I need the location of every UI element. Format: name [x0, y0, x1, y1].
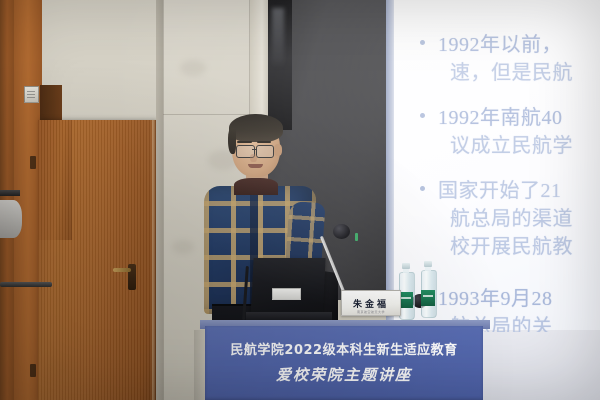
glasses-lens-right — [256, 145, 274, 158]
banner-title-line-1: 民航学院2022级本科生新生适应教育 — [205, 339, 483, 358]
speaker-hair-side — [228, 128, 236, 154]
door-gap-wall — [156, 0, 163, 400]
slide-text-line: 速，但是民航 — [450, 56, 573, 85]
door-panel-upper — [38, 120, 72, 240]
wall-mottle-1 — [180, 60, 206, 76]
door-hinge-lower — [30, 364, 36, 377]
laptop-label — [272, 288, 301, 300]
shirt-collar — [234, 178, 278, 195]
wall-sign-plaque — [24, 86, 39, 103]
speaker-eyebrow-left — [237, 141, 252, 143]
slide-text-line: 1992年南航40 — [438, 101, 563, 130]
slide-bullet-marker-1 — [420, 40, 425, 45]
water-bottle-label — [421, 290, 435, 306]
microphone-led-indicator — [355, 233, 358, 241]
slide-text-line: 1993年9月28 — [438, 282, 553, 311]
slide-text-line: 议成立民航学 — [450, 129, 573, 158]
speaker-eyebrow-right — [257, 141, 271, 143]
name-placard-text: 朱金福 — [353, 297, 389, 310]
handrail — [0, 282, 52, 287]
slide-bullet-marker-3 — [420, 186, 425, 191]
water-bottle-cap — [424, 261, 432, 267]
speaker-ear — [274, 144, 282, 156]
lecture-hall-photo: 1992年以前， 速，但是民航 1992年南航40 议成立民航学 国家开始了21… — [0, 0, 600, 400]
speaker-mouth — [248, 164, 263, 168]
wooden-door[interactable] — [38, 120, 156, 400]
microphone-icon — [333, 224, 350, 239]
name-placard: 朱金福 南京航空航天大学 — [341, 290, 401, 316]
speaker-hair — [229, 114, 283, 142]
door-lever-icon[interactable] — [113, 268, 131, 272]
slide-text-line: 航总局的渠道 — [450, 202, 573, 231]
water-bottle-label — [399, 292, 413, 308]
wall-bracket — [0, 190, 20, 196]
slide-text-line: 校开展民航教 — [450, 230, 573, 259]
slide-text-line: 1992年以前， — [438, 28, 562, 57]
glasses-bridge — [252, 149, 257, 150]
slide-text-line: 国家开始了21 — [438, 174, 562, 203]
name-placard-subtitle: 南京航空航天大学 — [342, 310, 400, 314]
banner-title-line-2: 爱校荣院主题讲座 — [205, 364, 483, 385]
dark-panel-reflection — [272, 8, 284, 68]
wall-fixture — [0, 200, 22, 238]
door-hinge-upper — [30, 156, 36, 169]
speaker-nose — [250, 154, 257, 162]
slide-bullet-marker-2 — [420, 113, 425, 118]
water-bottle-cap — [402, 263, 410, 269]
event-banner: 民航学院2022级本科生新生适应教育 爱校荣院主题讲座 — [205, 326, 483, 400]
